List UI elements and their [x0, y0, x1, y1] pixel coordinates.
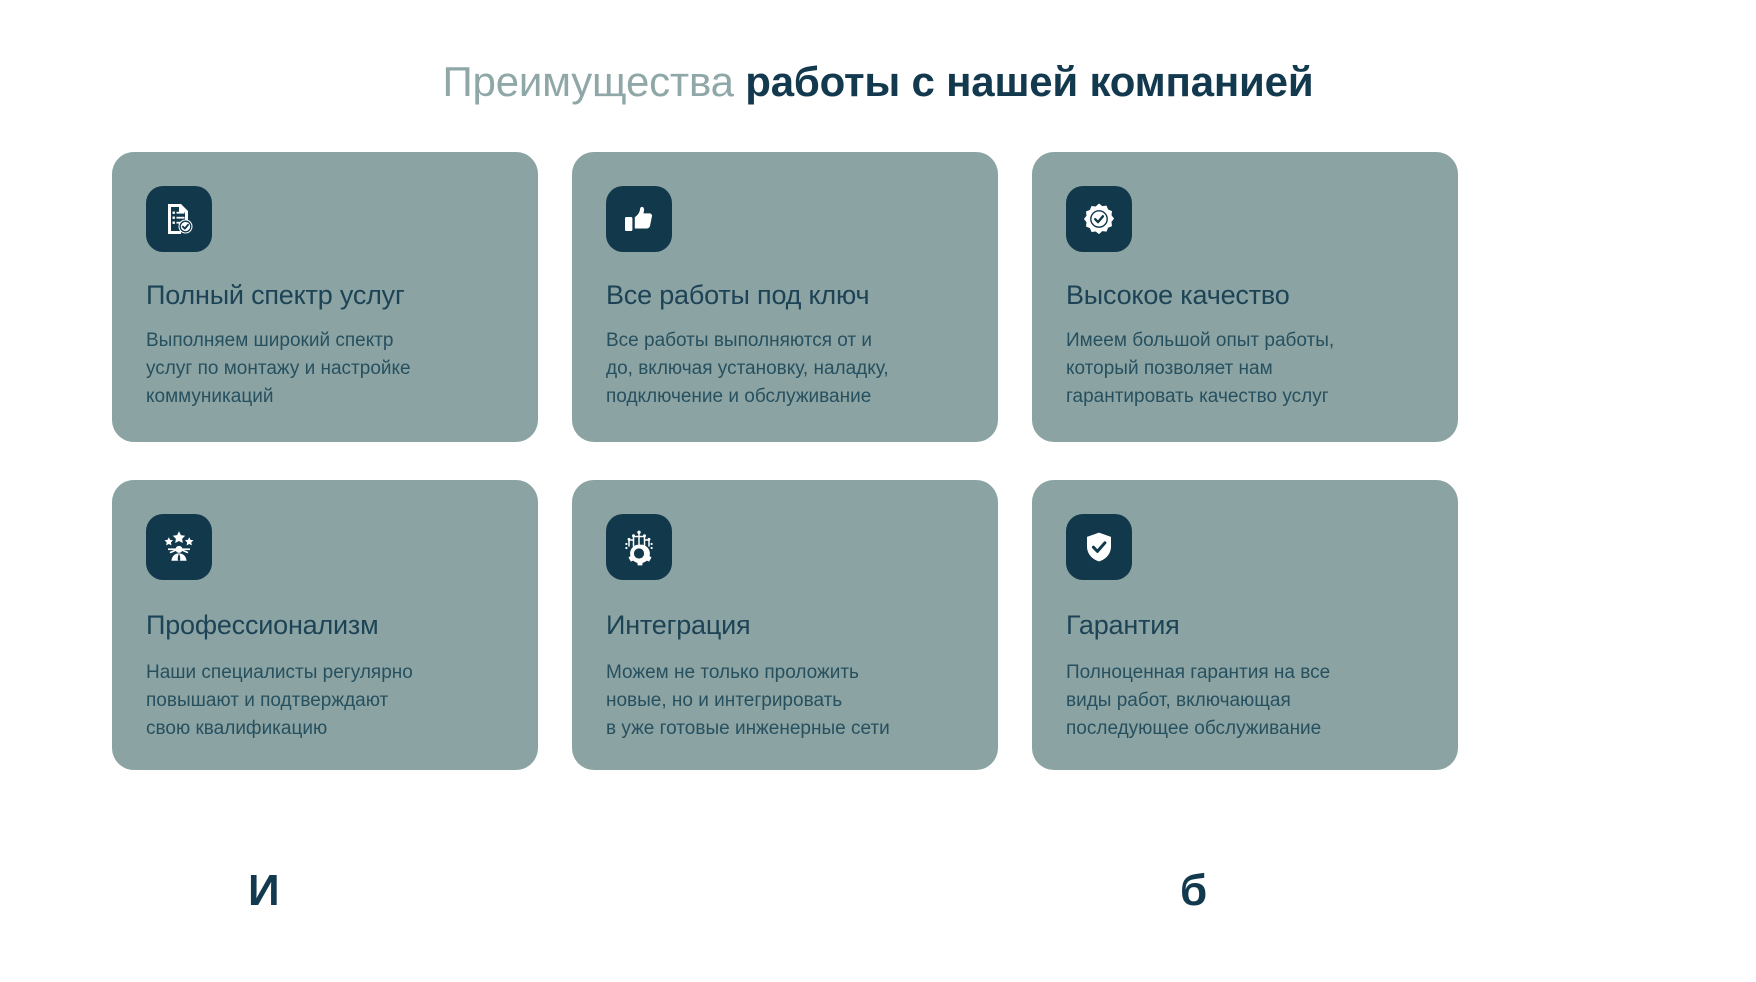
page-title: Преимущества работы с нашей компанией — [0, 58, 1756, 105]
advantage-card-turnkey: Все работы под ключ Все работы выполняют… — [572, 152, 998, 442]
advantages-card-grid: Полный спектр услуг Выполняем широкий сп… — [112, 152, 1462, 770]
advantage-card-high-quality: Высокое качество Имеем большой опыт рабо… — [1032, 152, 1458, 442]
advantage-card-title: Интеграция — [606, 610, 750, 641]
page-title-main: работы с нашей компанией — [745, 58, 1313, 105]
next-section-fragment-left: И — [248, 866, 280, 916]
advantage-card-professionalism: Профессионализм Наши специалисты регуляр… — [112, 480, 538, 770]
advantage-card-description: Имеем большой опыт работы, который позво… — [1066, 327, 1334, 411]
shield-check-icon — [1066, 514, 1132, 580]
checklist-document-icon — [146, 186, 212, 252]
advantage-card-description: Наши специалисты регулярно повышают и по… — [146, 659, 413, 743]
advantage-card-integration: Интеграция Можем не только проложить нов… — [572, 480, 998, 770]
next-section-peek: И б — [0, 860, 1756, 982]
thumbs-up-icon — [606, 186, 672, 252]
next-section-fragment-right: б — [1180, 866, 1207, 916]
advantage-card-description: Выполняем широкий спектр услуг по монтаж… — [146, 327, 411, 411]
quality-badge-check-icon — [1066, 186, 1132, 252]
gear-circuit-integration-icon — [606, 514, 672, 580]
advantage-card-warranty: Гарантия Полноценная гарантия на все вид… — [1032, 480, 1458, 770]
advantage-card-description: Полноценная гарантия на все виды работ, … — [1066, 659, 1330, 743]
advantage-card-title: Полный спектр услуг — [146, 280, 405, 311]
page-title-accent: Преимущества — [443, 58, 734, 105]
advantages-section: Преимущества работы с нашей компанией — [0, 0, 1756, 982]
advantage-card-description: Можем не только проложить новые, но и ин… — [606, 659, 890, 743]
advantage-card-title: Высокое качество — [1066, 280, 1290, 311]
advantage-card-title: Все работы под ключ — [606, 280, 869, 311]
advantage-card-full-service: Полный спектр услуг Выполняем широкий сп… — [112, 152, 538, 442]
advantage-card-description: Все работы выполняются от и до, включая … — [606, 327, 889, 411]
advantage-card-title: Профессионализм — [146, 610, 378, 641]
advantage-card-title: Гарантия — [1066, 610, 1180, 641]
expert-person-stars-icon — [146, 514, 212, 580]
